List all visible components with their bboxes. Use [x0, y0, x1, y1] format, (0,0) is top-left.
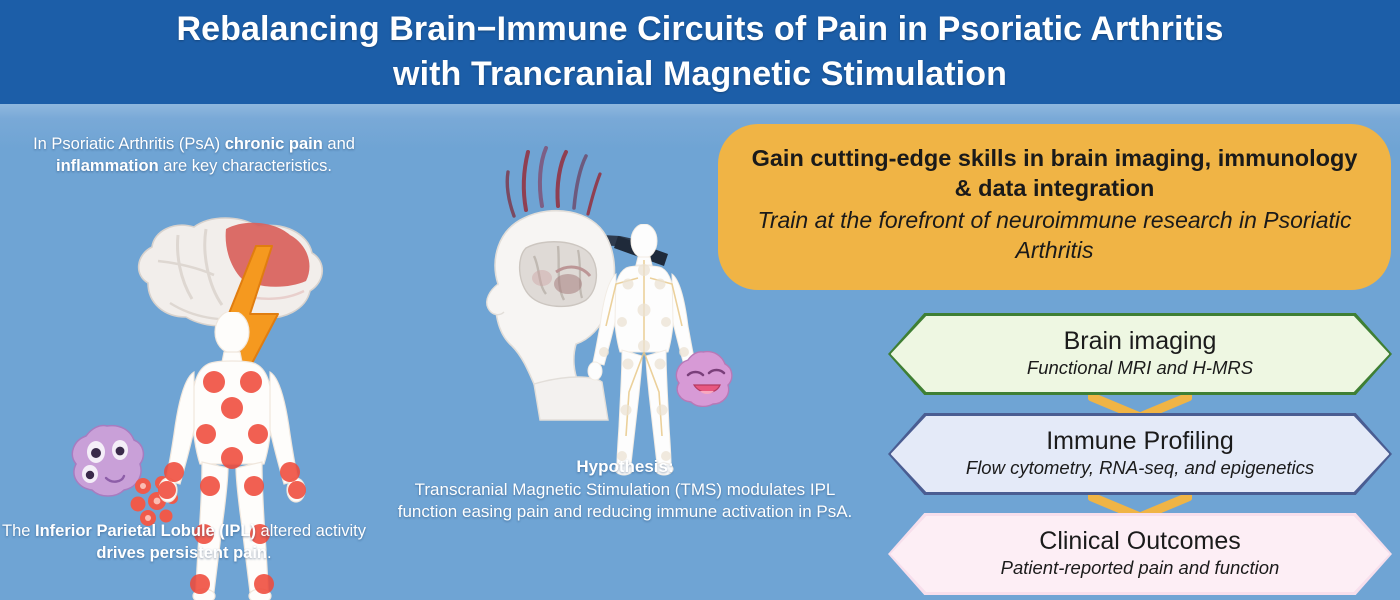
caption-ipl-bold2: drives persistent pain: [96, 544, 267, 562]
pipeline-step-subtitle: Flow cytometry, RNA-seq, and epigenetics: [966, 457, 1314, 479]
pipeline-step-title: Clinical Outcomes: [1039, 528, 1240, 555]
skills-callout-box: Gain cutting-edge skills in brain imagin…: [718, 124, 1391, 290]
caption-ipl: The Inferior Parietal Lobule (IPL) alter…: [0, 521, 368, 565]
pipeline-step-title: Brain imaging: [1064, 328, 1217, 355]
caption-ipl-part2: altered activity: [256, 522, 366, 540]
title-line-1: Rebalancing Brain−Immune Circuits of Pai…: [176, 7, 1223, 52]
pipeline-step-clinical-outcomes[interactable]: Clinical Outcomes Patient-reported pain …: [888, 513, 1392, 595]
caption-psa-bold2: inflammation: [56, 157, 159, 175]
caption-ipl-part3: .: [267, 544, 272, 562]
graphical-abstract-canvas: In Psoriatic Arthritis (PsA) chronic pai…: [0, 104, 1400, 600]
pipeline-step-title: Immune Profiling: [1046, 428, 1234, 455]
caption-psa-part1: In Psoriatic Arthritis (PsA): [33, 135, 225, 153]
caption-psa: In Psoriatic Arthritis (PsA) chronic pai…: [4, 134, 384, 178]
pipeline-step-immune-profiling[interactable]: Immune Profiling Flow cytometry, RNA-seq…: [888, 413, 1392, 495]
title-line-2: with Trancranial Magnetic Stimulation: [176, 52, 1223, 97]
caption-ipl-bold1: Inferior Parietal Lobule (IPL): [35, 522, 256, 540]
pipeline-step-brain-imaging[interactable]: Brain imaging Functional MRI and H-MRS: [888, 313, 1392, 395]
hypothesis-label: Hypothesis:: [390, 456, 860, 479]
hypothesis-body: Transcranial Magnetic Stimulation (TMS) …: [398, 480, 853, 522]
caption-psa-part2: and: [323, 135, 355, 153]
pipeline-step-subtitle: Functional MRI and H-MRS: [1027, 357, 1253, 379]
caption-hypothesis: Hypothesis: Transcranial Magnetic Stimul…: [390, 456, 860, 524]
callout-subline: Train at the forefront of neuroimmune re…: [748, 206, 1361, 266]
header-band: Rebalancing Brain−Immune Circuits of Pai…: [0, 0, 1400, 104]
regulated-immune-cell-icon: [672, 349, 734, 407]
page-title: Rebalancing Brain−Immune Circuits of Pai…: [176, 7, 1223, 97]
caption-psa-part3: are key characteristics.: [159, 157, 332, 175]
pipeline-step-subtitle: Patient-reported pain and function: [1001, 557, 1280, 579]
callout-headline: Gain cutting-edge skills in brain imagin…: [748, 144, 1361, 204]
caption-psa-bold1: chronic pain: [225, 135, 323, 153]
caption-ipl-part1: The: [2, 522, 35, 540]
